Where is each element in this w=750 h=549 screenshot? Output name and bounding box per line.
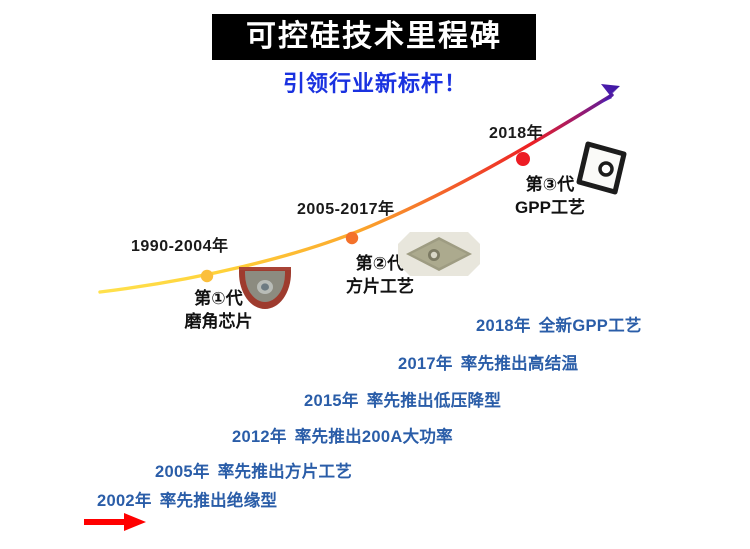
achievement-text-2017: 率先推出高结温 [461,355,579,373]
page-subtitle: 引领行业新标杆！ [0,66,750,98]
generation-tech-gen3: GPP工艺 [500,197,600,220]
achievement-item-2012: 2012年率先推出200A大功率 [232,423,453,447]
generation-tech-gen1: 磨角芯片 [166,311,271,334]
era-label-gen3: 2018年 [489,119,543,143]
achievement-text-2018: 全新GPP工艺 [539,317,642,335]
achievement-item-2015: 2015年率先推出低压降型 [304,387,501,411]
achievement-year-2018: 2018年 [476,317,531,335]
achievement-item-2018: 2018年全新GPP工艺 [476,312,642,336]
achievement-text-2015: 率先推出低压降型 [367,392,501,410]
era-label-gen1: 1990-2004年 [131,232,229,256]
milestone-dot-gen1 [201,270,213,282]
era-label-gen2: 2005-2017年 [297,195,395,219]
achievement-text-2012: 率先推出200A大功率 [295,428,453,446]
achievement-year-2012: 2012年 [232,428,287,446]
red-right-arrow-icon [82,512,148,532]
achievement-item-2002: 2002年率先推出绝缘型 [97,487,277,511]
achievement-item-2017: 2017年率先推出高结温 [398,350,578,374]
chip-gen1-beveled-icon [236,265,294,309]
achievement-year-2015: 2015年 [304,392,359,410]
achievement-year-2017: 2017年 [398,355,453,373]
milestone-dot-gen2 [346,232,358,244]
title-banner: 可控硅技术里程碑 [212,14,536,60]
achievement-item-2005: 2005年率先推出方片工艺 [155,458,352,482]
chip-gen2-square-icon [396,228,482,280]
milestone-infographic: 可控硅技术里程碑 引领行业新标杆！ [0,0,750,549]
achievement-text-2005: 率先推出方片工艺 [218,463,352,481]
achievement-year-2005: 2005年 [155,463,210,481]
achievement-year-2002: 2002年 [97,492,152,510]
achievement-text-2002: 率先推出绝缘型 [160,492,278,510]
chip-gen3-gpp-icon [572,138,630,198]
page-title: 可控硅技术里程碑 [246,22,502,52]
milestone-dot-gen3 [516,152,530,166]
